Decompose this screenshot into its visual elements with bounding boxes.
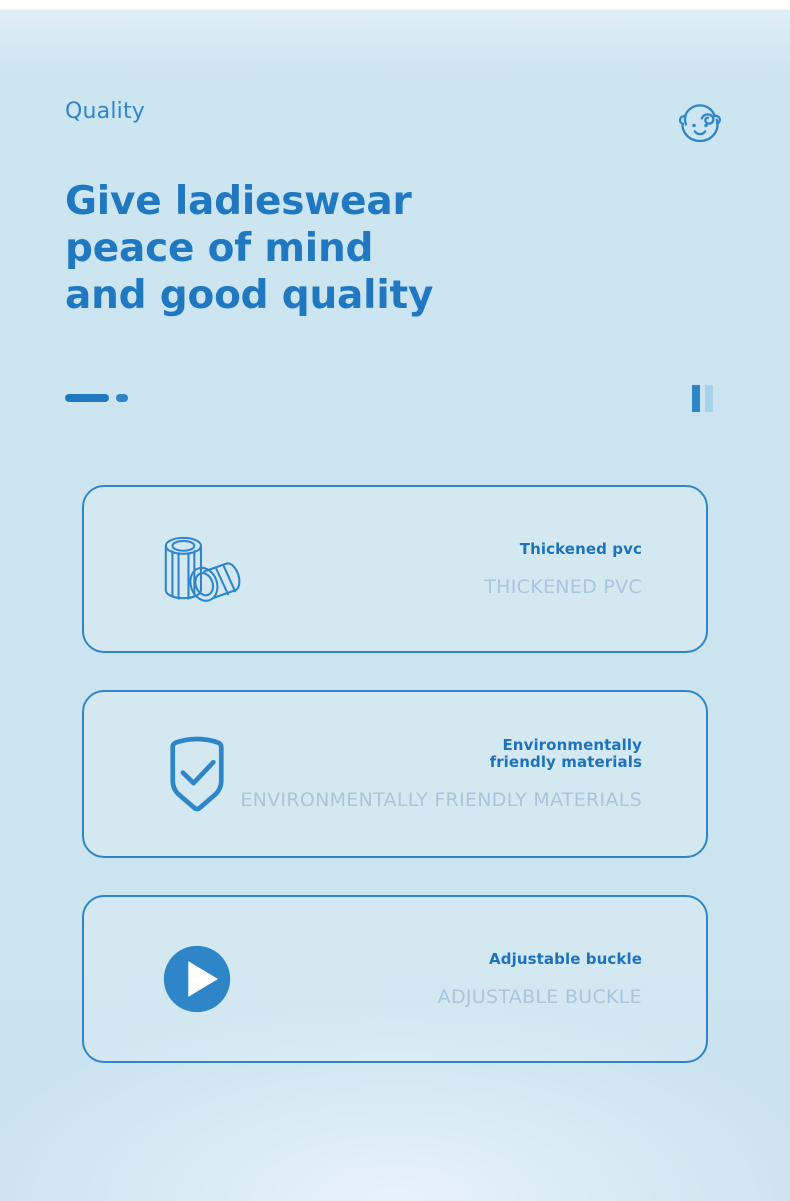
rule-bar-icon — [65, 394, 109, 402]
feature-card-text: Environmentally friendly materials ENVIR… — [240, 737, 642, 811]
feature-card-text: Adjustable buckle ADJUSTABLE BUCKLE — [438, 951, 642, 1008]
feature-card-subtitle: ENVIRONMENTALLY FRIENDLY MATERIALS — [240, 789, 642, 811]
headline-line-3: and good quality — [65, 272, 433, 319]
feature-title-line: Adjustable buckle — [438, 951, 642, 968]
pause-bars-icon — [692, 385, 713, 412]
feature-card-title: Environmentally friendly materials — [240, 737, 642, 771]
quality-feature-page: Quality Give ladieswear peace of mind an… — [0, 0, 790, 1201]
feature-card-subtitle: THICKENED PVC — [484, 576, 642, 598]
play-circle-icon — [142, 924, 252, 1034]
feature-card-list: Thickened pvc THICKENED PVC Environmenta… — [82, 485, 708, 1100]
section-divider — [65, 394, 128, 402]
feature-card-subtitle: ADJUSTABLE BUCKLE — [438, 986, 642, 1008]
feature-card-title: Adjustable buckle — [438, 951, 642, 968]
pvc-rolls-icon — [142, 514, 252, 624]
feature-card-text: Thickened pvc THICKENED PVC — [484, 541, 642, 598]
feature-card-thickened-pvc[interactable]: Thickened pvc THICKENED PVC — [82, 485, 708, 653]
shield-check-icon — [142, 719, 252, 829]
feature-title-line: Environmentally — [240, 737, 642, 754]
feature-card-environmentally-friendly[interactable]: Environmentally friendly materials ENVIR… — [82, 690, 708, 858]
feature-title-line: Thickened pvc — [484, 541, 642, 558]
feature-title-line: friendly materials — [240, 754, 642, 771]
pause-bar-left — [692, 385, 700, 412]
feature-card-adjustable-buckle[interactable]: Adjustable buckle ADJUSTABLE BUCKLE — [82, 895, 708, 1063]
section-eyebrow: Quality — [65, 99, 145, 124]
headline-line-1: Give ladieswear — [65, 178, 433, 225]
headline-line-2: peace of mind — [65, 225, 433, 272]
baby-face-icon — [673, 97, 727, 151]
feature-card-title: Thickened pvc — [484, 541, 642, 558]
pause-bar-right — [705, 385, 713, 412]
page-title: Give ladieswear peace of mind and good q… — [65, 178, 433, 319]
rule-dot-icon — [116, 394, 128, 402]
